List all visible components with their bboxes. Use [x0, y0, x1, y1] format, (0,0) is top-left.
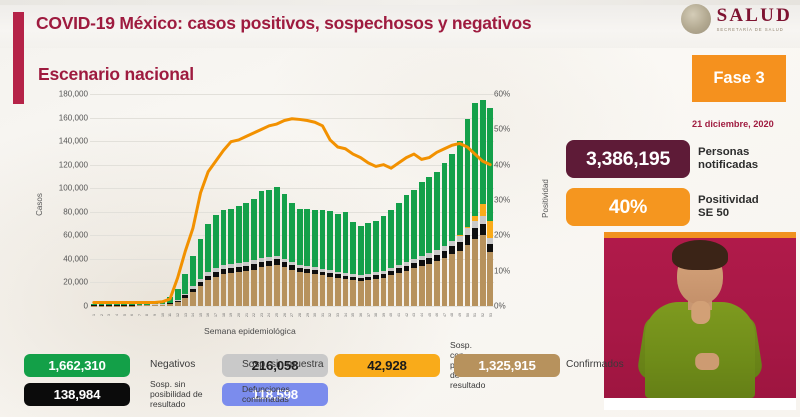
report-date: 21 diciembre, 2020 — [692, 119, 774, 129]
stat-label-line1: Personas — [698, 146, 758, 159]
stat-value-pill: 40% — [566, 188, 690, 226]
secondary-y-axis-ticks: 0%10%20%30%40%50%60% — [494, 94, 528, 306]
y-axis-tick-label: 160,000 — [59, 113, 88, 122]
lower-hand — [695, 353, 719, 370]
logo-sub-text: SECRETARÍA DE SALUD — [717, 27, 784, 32]
plot-canvas — [90, 94, 494, 306]
stat-label: Personas notificadas — [698, 146, 758, 172]
secondary-y-axis-tick-label: 30% — [494, 196, 510, 205]
video-bottom-border — [604, 398, 796, 410]
video-frame — [604, 238, 796, 398]
x-axis-ticks: 1234567891011121314151617181920212223242… — [90, 307, 494, 323]
y-axis-tick-label: 120,000 — [59, 160, 88, 169]
y-axis-tick-label: 0 — [83, 302, 88, 311]
secondary-y-axis-tick-label: 40% — [494, 160, 510, 169]
secondary-y-axis-tick-label: 0% — [494, 302, 506, 311]
legend-label: Confirmados — [558, 359, 678, 371]
y-axis-tick-label: 80,000 — [63, 207, 88, 216]
y-axis-ticks: 020,00040,00060,00080,000100,000120,0001… — [38, 94, 88, 306]
chart-legend: 1,662,310Negativos216,058Sosp. sin muest… — [24, 352, 584, 412]
stat-label: Positividad SE 50 — [698, 194, 759, 220]
legend-label: Sosp. sin posibilidad de resultado — [142, 379, 222, 409]
stat-label-line2: notificadas — [698, 159, 758, 172]
stat-label-line2: SE 50 — [698, 207, 759, 220]
y-axis-tick-label: 60,000 — [63, 231, 88, 240]
sign-language-interpreter-feed — [604, 232, 796, 410]
stat-value-pill: 3,386,195 — [566, 140, 690, 178]
y-axis-tick-label: 100,000 — [59, 184, 88, 193]
legend-value-chip: 1,325,915 — [454, 354, 560, 377]
secondary-y-axis-label: Positividad — [541, 179, 550, 218]
section-title: Escenario nacional — [38, 64, 194, 85]
hair — [672, 240, 728, 270]
y-axis-tick-label: 140,000 — [59, 137, 88, 146]
positivity-line — [94, 119, 490, 303]
y-axis-tick-label: 20,000 — [63, 278, 88, 287]
secondary-y-axis-tick-label: 20% — [494, 231, 510, 240]
legend-value-chip: 138,984 — [24, 383, 130, 406]
stat-value: 3,386,195 — [586, 148, 670, 171]
upper-hand — [691, 301, 710, 324]
phase-badge: Fase 3 — [692, 55, 786, 102]
positivity-line-series — [90, 94, 494, 306]
stat-positivity: 40% Positividad SE 50 — [566, 188, 759, 226]
x-axis-tick-label: 53 — [482, 311, 498, 319]
legend-value-chip: 1,662,310 — [24, 354, 130, 377]
chart-panel: Escenario nacional Casos Positividad 020… — [24, 58, 552, 348]
legend-value-chip: 42,928 — [334, 354, 440, 377]
legend-label: Sosp. sin muestra — [234, 359, 334, 371]
page-title: COVID-19 México: casos positivos, sospec… — [36, 13, 531, 34]
secondary-y-axis-tick-label: 60% — [494, 90, 510, 99]
mexico-eagle-emblem-icon — [681, 4, 711, 34]
phase-label: Fase 3 — [713, 69, 764, 88]
stat-value: 40% — [609, 196, 647, 219]
logo-text: SALUD SECRETARÍA DE SALUD — [717, 6, 792, 33]
secondary-y-axis-tick-label: 50% — [494, 125, 510, 134]
presentation-slide: COVID-19 México: casos positivos, sospec… — [0, 0, 800, 417]
legend-value: 1,662,310 — [48, 358, 105, 373]
left-accent-stripe — [13, 12, 24, 104]
x-axis-label: Semana epidemiológica — [204, 326, 296, 336]
stat-label-line1: Positividad — [698, 194, 759, 207]
secondary-y-axis-tick-label: 10% — [494, 266, 510, 275]
legend-label: Defunciones confirmadas — [234, 384, 334, 404]
legend-value: 42,928 — [367, 358, 406, 373]
y-axis-tick-label: 180,000 — [59, 90, 88, 99]
interpreter-figure — [635, 246, 765, 398]
legend-label: Sosp. con posibilidad de resultado — [442, 340, 454, 391]
legend-label: Negativos — [142, 359, 222, 371]
plot-area-wrapper: Casos Positividad 020,00040,00060,00080,… — [24, 94, 552, 348]
y-axis-tick-label: 40,000 — [63, 254, 88, 263]
salud-logo: SALUD SECRETARÍA DE SALUD — [681, 4, 792, 34]
stat-notified-people: 3,386,195 Personas notificadas — [566, 140, 758, 178]
legend-value: 1,325,915 — [478, 358, 535, 373]
legend-value: 138,984 — [54, 387, 101, 402]
logo-main-text: SALUD — [717, 6, 792, 25]
